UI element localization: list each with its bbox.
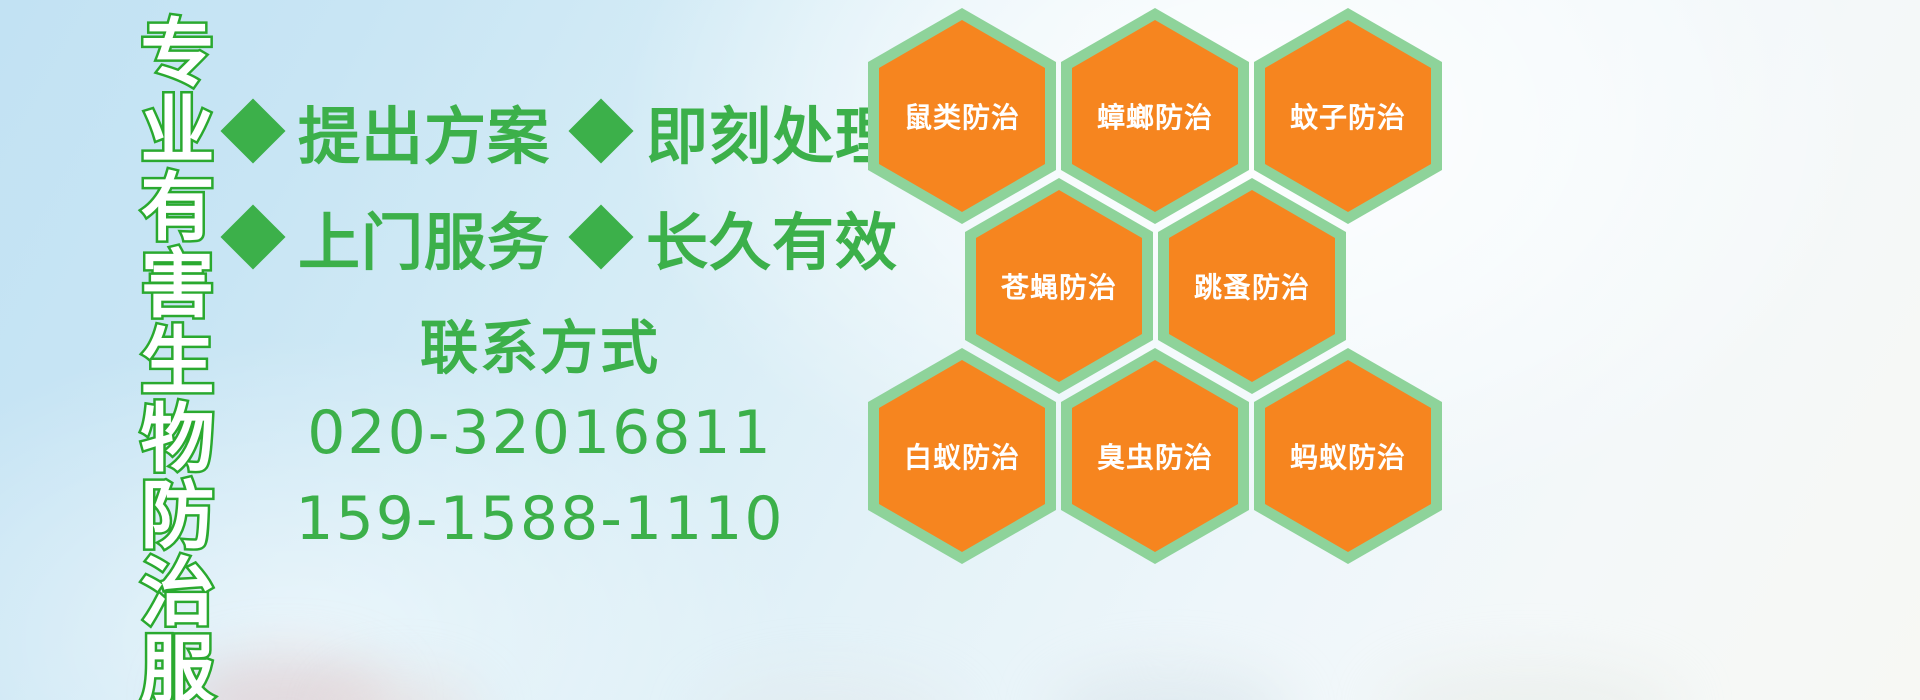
hex-inner: 鼠类防治 — [879, 20, 1045, 212]
diamond-bullet-icon — [568, 98, 633, 163]
hex-label: 苍蝇防治 — [1001, 266, 1117, 306]
service-hex-termite-control[interactable]: 白蚁防治 — [868, 348, 1056, 564]
service-hex-cockroach-control[interactable]: 蟑螂防治 — [1061, 8, 1249, 224]
hex-inner: 蟑螂防治 — [1072, 20, 1238, 212]
bullet-label-onsite-service: 上门服务 — [298, 192, 550, 282]
contact-phone-mobile[interactable]: 159-1588-1110 — [250, 481, 830, 558]
diamond-bullet-icon — [568, 204, 633, 269]
hex-inner: 蚊子防治 — [1265, 20, 1431, 212]
bullet-label-propose-plan: 提出方案 — [298, 86, 550, 176]
hex-label: 臭虫防治 — [1097, 436, 1213, 476]
service-hex-mosquito-control[interactable]: 蚊子防治 — [1254, 8, 1442, 224]
hex-inner: 白蚁防治 — [879, 360, 1045, 552]
hex-label: 蟑螂防治 — [1097, 96, 1213, 136]
service-hex-ant-control[interactable]: 蚂蚁防治 — [1254, 348, 1442, 564]
contact-phone-landline[interactable]: 020-32016811 — [250, 395, 830, 472]
service-hex-bedbug-control[interactable]: 臭虫防治 — [1061, 348, 1249, 564]
diamond-bullet-icon — [220, 98, 285, 163]
service-hexagon-grid: 鼠类防治 蟑螂防治 蚊子防治 苍蝇防治 跳蚤防治 白蚁防治 — [860, 0, 1560, 700]
hex-label: 蚊子防治 — [1290, 96, 1406, 136]
promo-banner: 专业有害生物防治服务 提出方案 即刻处理 上门服务 长久有效 联系方式 020-… — [0, 0, 1920, 700]
feature-bullet-list: 提出方案 即刻处理 上门服务 长久有效 — [228, 78, 878, 290]
service-hex-flea-control[interactable]: 跳蚤防治 — [1158, 178, 1346, 394]
hex-label: 鼠类防治 — [904, 96, 1020, 136]
contact-block: 联系方式 020-32016811 159-1588-1110 — [250, 312, 830, 558]
service-hex-rodent-control[interactable]: 鼠类防治 — [868, 8, 1056, 224]
hex-inner: 蚂蚁防治 — [1265, 360, 1431, 552]
bullet-row: 提出方案 即刻处理 — [228, 78, 878, 184]
hex-label: 白蚁防治 — [904, 436, 1020, 476]
hex-inner: 苍蝇防治 — [976, 190, 1142, 382]
service-hex-fly-control[interactable]: 苍蝇防治 — [965, 178, 1153, 394]
hex-inner: 跳蚤防治 — [1169, 190, 1335, 382]
diamond-bullet-icon — [220, 204, 285, 269]
vertical-headline: 专业有害生物防治服务 — [112, 14, 208, 686]
hex-label: 蚂蚁防治 — [1290, 436, 1406, 476]
hex-label: 跳蚤防治 — [1194, 266, 1310, 306]
contact-title: 联系方式 — [250, 312, 830, 385]
bullet-row: 上门服务 长久有效 — [228, 184, 878, 290]
hex-inner: 臭虫防治 — [1072, 360, 1238, 552]
floor-blur-blotch — [330, 676, 480, 700]
